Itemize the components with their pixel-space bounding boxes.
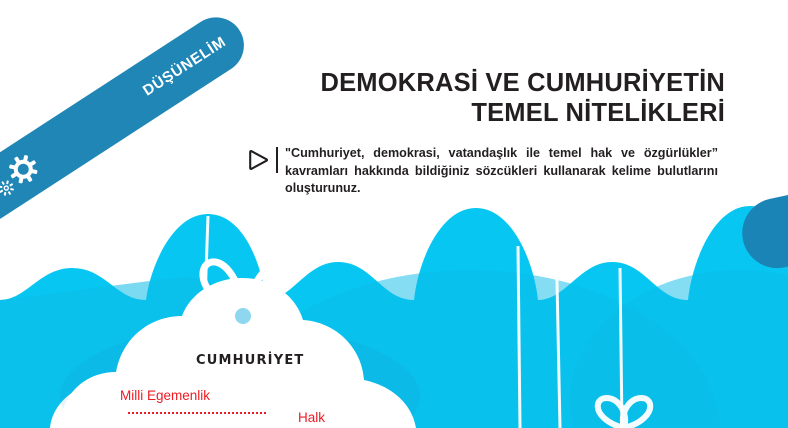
word-cloud-dotted-line xyxy=(128,412,266,416)
page-title-line-1: DEMOKRASİ VE CUMHURİYETİN xyxy=(255,68,725,98)
word-cloud-word-milli-egemenlik: Milli Egemenlik xyxy=(120,388,210,403)
bow-center-dot xyxy=(235,308,251,324)
slide-canvas: DÜŞÜNELİM DEMOKRASİ VE CUMHURİYETİN TEME… xyxy=(0,0,788,428)
page-title: DEMOKRASİ VE CUMHURİYETİN TEMEL NİTELİKL… xyxy=(255,68,725,128)
instruction-block: "Cumhuriyet, demokrasi, vatandaşlık ile … xyxy=(246,145,718,198)
word-cloud-word-halk: Halk xyxy=(298,410,325,425)
string-3 xyxy=(518,246,520,428)
instruction-text: "Cumhuriyet, demokrasi, vatandaşlık ile … xyxy=(285,145,718,198)
prompt-divider xyxy=(276,147,278,173)
page-title-line-2: TEMEL NİTELİKLERİ xyxy=(255,98,725,128)
sky-and-clouds-svg xyxy=(0,0,788,428)
gears-group xyxy=(0,149,44,200)
word-cloud-title: CUMHURİYET xyxy=(196,353,304,368)
play-triangle-icon xyxy=(246,147,272,173)
background-artwork xyxy=(0,0,788,428)
